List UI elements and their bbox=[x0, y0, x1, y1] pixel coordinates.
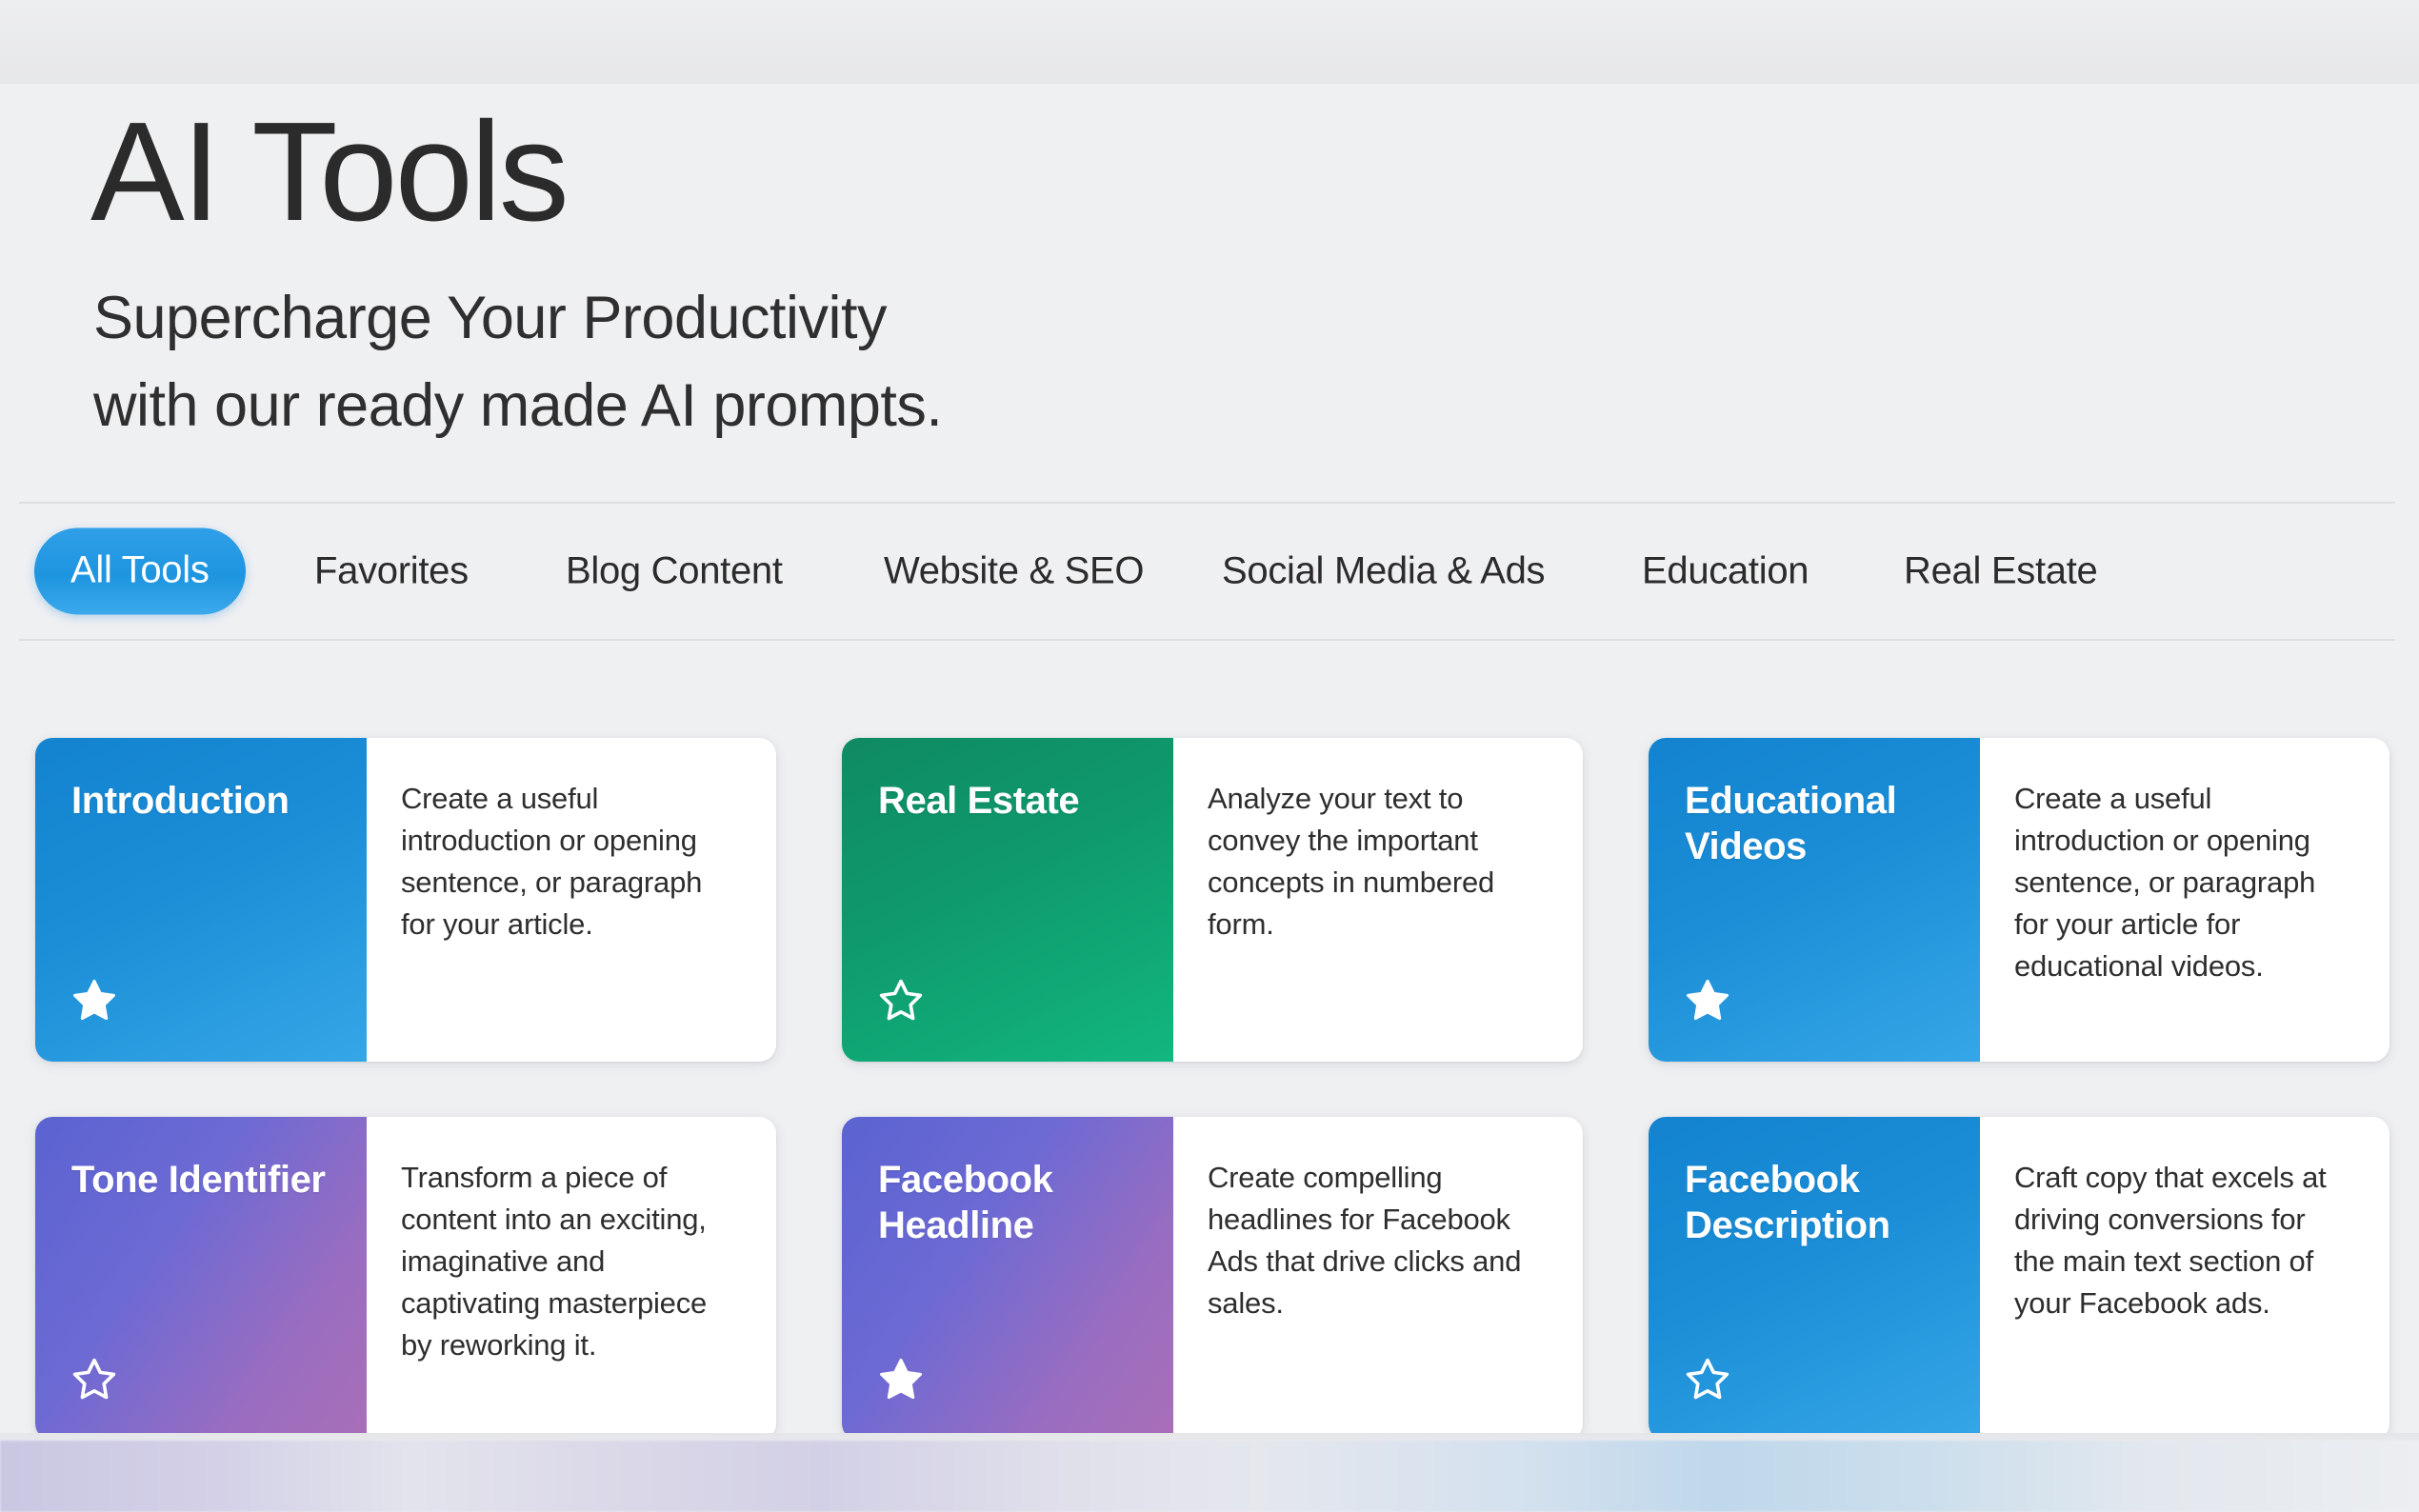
top-band bbox=[0, 0, 2419, 84]
tab-social-media-ads[interactable]: Social Media & Ads bbox=[1222, 550, 1545, 593]
subtitle-line-2: with our ready made AI prompts. bbox=[93, 362, 942, 449]
tool-card-header: Introduction bbox=[35, 738, 367, 1062]
divider-below-tabs bbox=[19, 639, 2395, 641]
tool-card-title: Real Estate bbox=[878, 778, 1137, 824]
category-tab-bar: All ToolsFavoritesBlog ContentWebsite & … bbox=[0, 504, 2419, 639]
subtitle-line-1: Supercharge Your Productivity bbox=[93, 274, 942, 362]
tool-card-body: Transform a piece of content into an exc… bbox=[367, 1117, 776, 1441]
tool-card-description: Craft copy that excels at driving conver… bbox=[2014, 1157, 2351, 1324]
ai-tools-page: AI Tools Supercharge Your Productivity w… bbox=[0, 0, 2419, 1512]
tool-card-body: Create a useful introduction or opening … bbox=[367, 738, 776, 1062]
tool-card-description: Create compelling headlines for Facebook… bbox=[1208, 1157, 1545, 1324]
tool-card[interactable]: IntroductionCreate a useful introduction… bbox=[35, 738, 776, 1062]
tool-card-body: Create compelling headlines for Facebook… bbox=[1173, 1117, 1583, 1441]
tool-card-header: Tone Identifier bbox=[35, 1117, 367, 1441]
tab-real-estate[interactable]: Real Estate bbox=[1904, 550, 2097, 593]
tool-card-title: Introduction bbox=[71, 778, 330, 824]
star-outline-icon[interactable] bbox=[1685, 1357, 1730, 1403]
star-outline-icon[interactable] bbox=[878, 978, 924, 1024]
star-filled-icon[interactable] bbox=[1685, 978, 1730, 1024]
tool-card-description: Transform a piece of content into an exc… bbox=[401, 1157, 738, 1366]
tool-card-description: Analyze your text to convey the importan… bbox=[1208, 778, 1545, 945]
bottom-reflection-glow bbox=[0, 1441, 2419, 1512]
tool-card-body: Create a useful introduction or opening … bbox=[1980, 738, 2389, 1062]
tool-card-description: Create a useful introduction or opening … bbox=[2014, 778, 2351, 987]
star-filled-icon[interactable] bbox=[878, 1357, 924, 1403]
star-outline-icon[interactable] bbox=[71, 1357, 117, 1403]
tab-education[interactable]: Education bbox=[1642, 550, 1809, 593]
hero-section: AI Tools Supercharge Your Productivity w… bbox=[0, 84, 2419, 503]
tool-card-body: Craft copy that excels at driving conver… bbox=[1980, 1117, 2389, 1441]
tool-card-description: Create a useful introduction or opening … bbox=[401, 778, 738, 945]
tool-card-header: Facebook Description bbox=[1649, 1117, 1980, 1441]
tool-card-body: Analyze your text to convey the importan… bbox=[1173, 738, 1583, 1062]
tool-card-title: Facebook Headline bbox=[878, 1157, 1137, 1248]
tool-card-header: Educational Videos bbox=[1649, 738, 1980, 1062]
page-title: AI Tools bbox=[90, 101, 567, 244]
tool-card[interactable]: Educational VideosCreate a useful introd… bbox=[1649, 738, 2389, 1062]
tab-website-seo[interactable]: Website & SEO bbox=[884, 550, 1144, 593]
tab-blog-content[interactable]: Blog Content bbox=[566, 550, 783, 593]
tool-card-title: Tone Identifier bbox=[71, 1157, 330, 1203]
star-filled-icon[interactable] bbox=[71, 978, 117, 1024]
tool-card-title: Facebook Description bbox=[1685, 1157, 1944, 1248]
tab-favorites[interactable]: Favorites bbox=[314, 550, 469, 593]
tool-card-header: Facebook Headline bbox=[842, 1117, 1173, 1441]
tool-card-title: Educational Videos bbox=[1685, 778, 1944, 869]
tab-all-tools[interactable]: All Tools bbox=[34, 528, 246, 615]
page-subtitle: Supercharge Your Productivity with our r… bbox=[93, 274, 942, 449]
tool-card[interactable]: Tone IdentifierTransform a piece of cont… bbox=[35, 1117, 776, 1441]
tool-card[interactable]: Facebook DescriptionCraft copy that exce… bbox=[1649, 1117, 2389, 1441]
tool-card-header: Real Estate bbox=[842, 738, 1173, 1062]
tool-card[interactable]: Facebook HeadlineCreate compelling headl… bbox=[842, 1117, 1583, 1441]
tool-card[interactable]: Real EstateAnalyze your text to convey t… bbox=[842, 738, 1583, 1062]
